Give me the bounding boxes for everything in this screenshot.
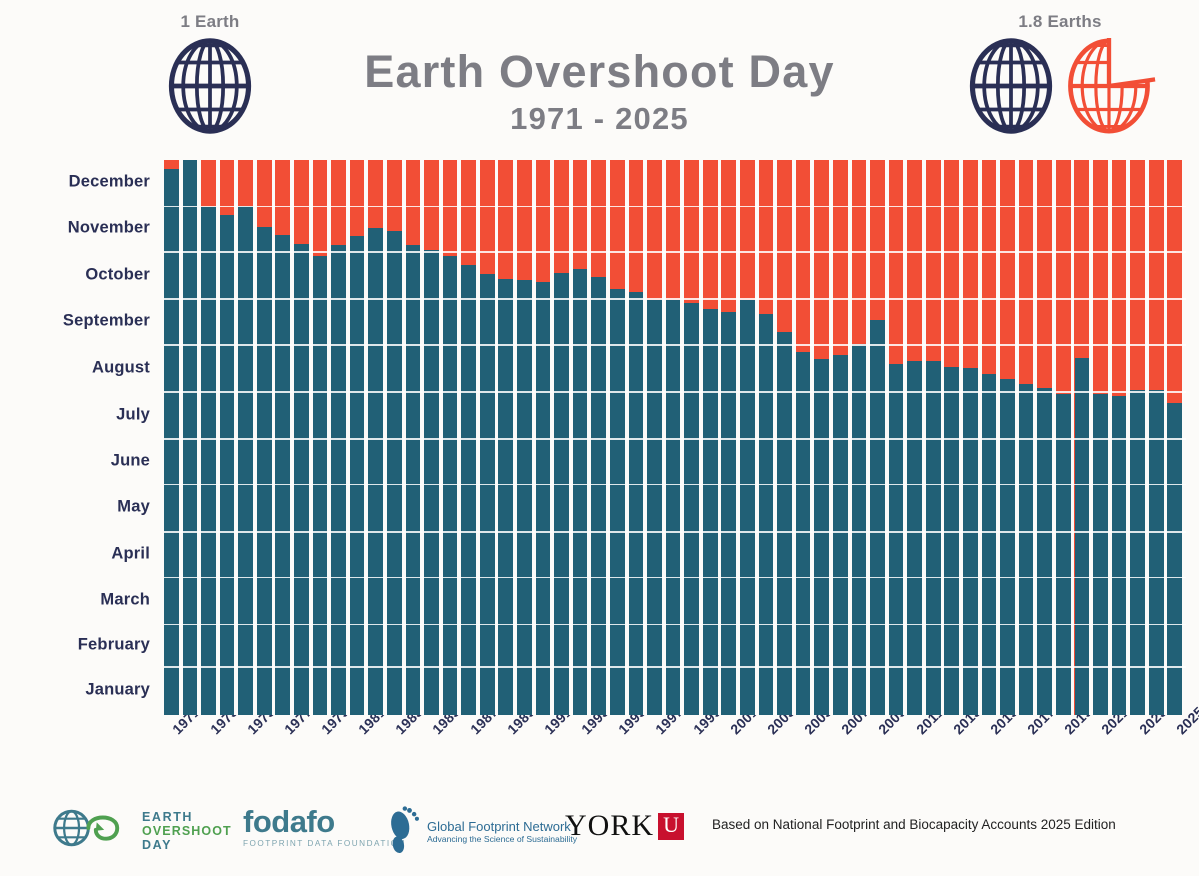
bar-gap: [885, 160, 889, 715]
bar-1988[interactable]: [480, 274, 495, 715]
bar-1975[interactable]: [238, 206, 253, 715]
chart-header: 1 Earth Earth Overshoot Day 1971 - 2025: [0, 0, 1199, 155]
bar-gap: [1052, 160, 1056, 715]
bar-gap: [327, 160, 331, 715]
bar-2020[interactable]: [1075, 358, 1090, 715]
bar-gap: [550, 160, 554, 715]
global-footprint-network-logo[interactable]: Global Footprint Network Advancing the S…: [385, 803, 577, 860]
bar-gap: [309, 160, 313, 715]
bar-gap: [476, 160, 480, 715]
york-word: YORK: [565, 809, 654, 843]
bar-2011[interactable]: [907, 361, 922, 715]
bar-gap: [625, 160, 629, 715]
gfn-line-1: Global Footprint Network: [427, 819, 577, 834]
bar-1971[interactable]: [164, 169, 179, 715]
eod-globe-arrow-icon: [52, 805, 134, 856]
bar-1999[interactable]: [684, 303, 699, 715]
y-axis-label-december: December: [69, 173, 150, 192]
bar-gap: [290, 160, 294, 715]
plot-area: [164, 160, 1186, 715]
bar-gap: [1108, 160, 1112, 715]
y-axis-label-september: September: [63, 312, 150, 331]
bar-1986[interactable]: [443, 256, 458, 715]
bar-gap: [606, 160, 610, 715]
bar-gap: [941, 160, 945, 715]
fodafo-logo[interactable]: fodafo FOOTPRINT DATA FOUNDATION: [243, 807, 406, 848]
y-axis-label-october: October: [85, 265, 150, 284]
bar-2019[interactable]: [1056, 394, 1071, 715]
fodafo-word: fodafo: [243, 807, 406, 837]
partial-globe-icon: [1062, 36, 1156, 141]
bar-gap: [792, 160, 796, 715]
york-university-logo[interactable]: YORK: [565, 809, 684, 843]
bar-1987[interactable]: [461, 265, 476, 715]
bar-2002[interactable]: [740, 300, 755, 715]
bar-2000[interactable]: [703, 309, 718, 715]
y-axis-label-january: January: [85, 680, 150, 699]
bar-gap: [1089, 160, 1093, 715]
bar-2016[interactable]: [1000, 379, 1015, 715]
bar-2013[interactable]: [944, 367, 959, 715]
bar-gap: [179, 160, 183, 715]
bar-1998[interactable]: [666, 300, 681, 715]
bar-gap: [253, 160, 257, 715]
bar-gap: [810, 160, 814, 715]
bar-gap: [569, 160, 573, 715]
bar-gap: [996, 160, 1000, 715]
bar-1978[interactable]: [294, 244, 309, 715]
y-axis-month-labels: JanuaryFebruaryMarchAprilMayJuneJulyAugu…: [0, 160, 158, 715]
y-axis-label-august: August: [92, 358, 150, 377]
bar-gap: [364, 160, 368, 715]
bar-gap: [234, 160, 238, 715]
globe-icon: [964, 36, 1058, 141]
bar-1993[interactable]: [573, 269, 588, 715]
bar-1979[interactable]: [313, 256, 328, 715]
bar-gap: [513, 160, 517, 715]
bar-2025[interactable]: [1167, 403, 1182, 715]
bar-1972[interactable]: [183, 160, 198, 715]
bar-gap: [346, 160, 350, 715]
bar-gap: [439, 160, 443, 715]
eod-line-2: OVERSHOOT: [142, 824, 232, 838]
bar-gap: [1071, 160, 1075, 715]
bar-2017[interactable]: [1019, 384, 1034, 715]
bar-gap: [736, 160, 740, 715]
source-note-text: Based on National Footprint and Biocapac…: [712, 817, 1116, 832]
bar-2001[interactable]: [721, 312, 736, 715]
bar-2006[interactable]: [814, 359, 829, 715]
bar-1984[interactable]: [406, 245, 421, 715]
eod-wordmark: EARTH OVERSHOOT DAY: [142, 810, 232, 852]
bar-1996[interactable]: [629, 292, 644, 715]
bar-2022[interactable]: [1112, 396, 1127, 715]
bar-2010[interactable]: [889, 364, 904, 715]
bar-1990[interactable]: [517, 280, 532, 715]
bar-1991[interactable]: [536, 282, 551, 715]
one-earth-label: 1 Earth: [148, 12, 272, 32]
y-axis-label-april: April: [111, 544, 150, 563]
fodafo-subtitle: FOOTPRINT DATA FOUNDATION: [243, 839, 406, 848]
footprint-icon: [385, 803, 421, 860]
bar-1995[interactable]: [610, 289, 625, 715]
bar-gap: [866, 160, 870, 715]
y-axis-label-february: February: [78, 636, 150, 655]
york-u-mark: [658, 813, 684, 840]
bar-2004[interactable]: [777, 332, 792, 715]
bar-1973[interactable]: [201, 207, 216, 715]
bar-2007[interactable]: [833, 355, 848, 715]
bar-1985[interactable]: [424, 250, 439, 715]
bar-gap: [457, 160, 461, 715]
bar-1983[interactable]: [387, 231, 402, 715]
earths-required-label: 1.8 Earths: [940, 12, 1180, 32]
bar-gap: [718, 160, 722, 715]
earth-overshoot-day-logo[interactable]: EARTH OVERSHOOT DAY: [52, 805, 232, 856]
bar-1992[interactable]: [554, 273, 569, 715]
bar-2018[interactable]: [1037, 388, 1052, 715]
gfn-wordmark: Global Footprint Network Advancing the S…: [427, 819, 577, 845]
bar-gap: [587, 160, 591, 715]
bar-gap: [1164, 160, 1168, 715]
bar-2014[interactable]: [963, 368, 978, 715]
bar-1977[interactable]: [275, 235, 290, 715]
bar-gap: [959, 160, 963, 715]
bar-gap: [216, 160, 220, 715]
bar-1982[interactable]: [368, 228, 383, 715]
chart-footer: EARTH OVERSHOOT DAY fodafo FOOTPRINT DAT…: [0, 795, 1199, 876]
y-axis-label-november: November: [68, 219, 150, 238]
bar-2012[interactable]: [926, 361, 941, 715]
bar-gap: [1182, 160, 1186, 715]
earths-required-globes: [940, 36, 1180, 141]
bar-gap: [420, 160, 424, 715]
bar-2008[interactable]: [852, 344, 867, 715]
bar-gap: [922, 160, 926, 715]
bar-2003[interactable]: [759, 314, 774, 715]
bar-gap: [848, 160, 852, 715]
y-axis-label-june: June: [111, 452, 150, 471]
eod-line-3: DAY: [142, 838, 232, 852]
bar-gap: [1126, 160, 1130, 715]
bar-gap: [773, 160, 777, 715]
bar-gap: [680, 160, 684, 715]
bar-1981[interactable]: [350, 236, 365, 715]
bar-2015[interactable]: [982, 374, 997, 715]
eod-line-1: EARTH: [142, 810, 232, 824]
bar-gap: [643, 160, 647, 715]
bar-gap: [755, 160, 759, 715]
source-note: Based on National Footprint and Biocapac…: [712, 817, 1116, 832]
y-axis-label-may: May: [117, 498, 150, 517]
chart: JanuaryFebruaryMarchAprilMayJuneJulyAugu…: [0, 155, 1199, 795]
x-axis-year-labels: 1971197319751977197919811983198519871989…: [164, 720, 1186, 790]
bar-2009[interactable]: [870, 320, 885, 715]
y-axis-label-july: July: [116, 405, 150, 424]
bar-1976[interactable]: [257, 227, 272, 715]
bar-gap: [197, 160, 201, 715]
bar-1997[interactable]: [647, 300, 662, 715]
y-axis-label-march: March: [100, 591, 150, 610]
bar-1994[interactable]: [591, 277, 606, 715]
bar-2005[interactable]: [796, 352, 811, 715]
bar-1974[interactable]: [220, 215, 235, 715]
bar-gap: [1145, 160, 1149, 715]
bar-1980[interactable]: [331, 245, 346, 715]
gfn-line-2: Advancing the Science of Sustainability: [427, 834, 577, 845]
bar-1989[interactable]: [498, 279, 513, 715]
bar-2024[interactable]: [1149, 390, 1164, 715]
bar-gap: [532, 160, 536, 715]
bar-gap: [662, 160, 666, 715]
bar-gap: [903, 160, 907, 715]
bar-gap: [1015, 160, 1019, 715]
bar-gap: [495, 160, 499, 715]
bar-gap: [829, 160, 833, 715]
one-point-eight-earths-badge: 1.8 Earths: [940, 12, 1180, 141]
bar-gap: [699, 160, 703, 715]
fodafo-wordmark: fodafo FOOTPRINT DATA FOUNDATION: [243, 807, 406, 848]
bar-gap: [1033, 160, 1037, 715]
bar-gap: [383, 160, 387, 715]
bar-2023[interactable]: [1130, 390, 1145, 715]
bar-2021[interactable]: [1093, 394, 1108, 715]
bar-gap: [978, 160, 982, 715]
bar-gap: [402, 160, 406, 715]
bar-gap: [272, 160, 276, 715]
